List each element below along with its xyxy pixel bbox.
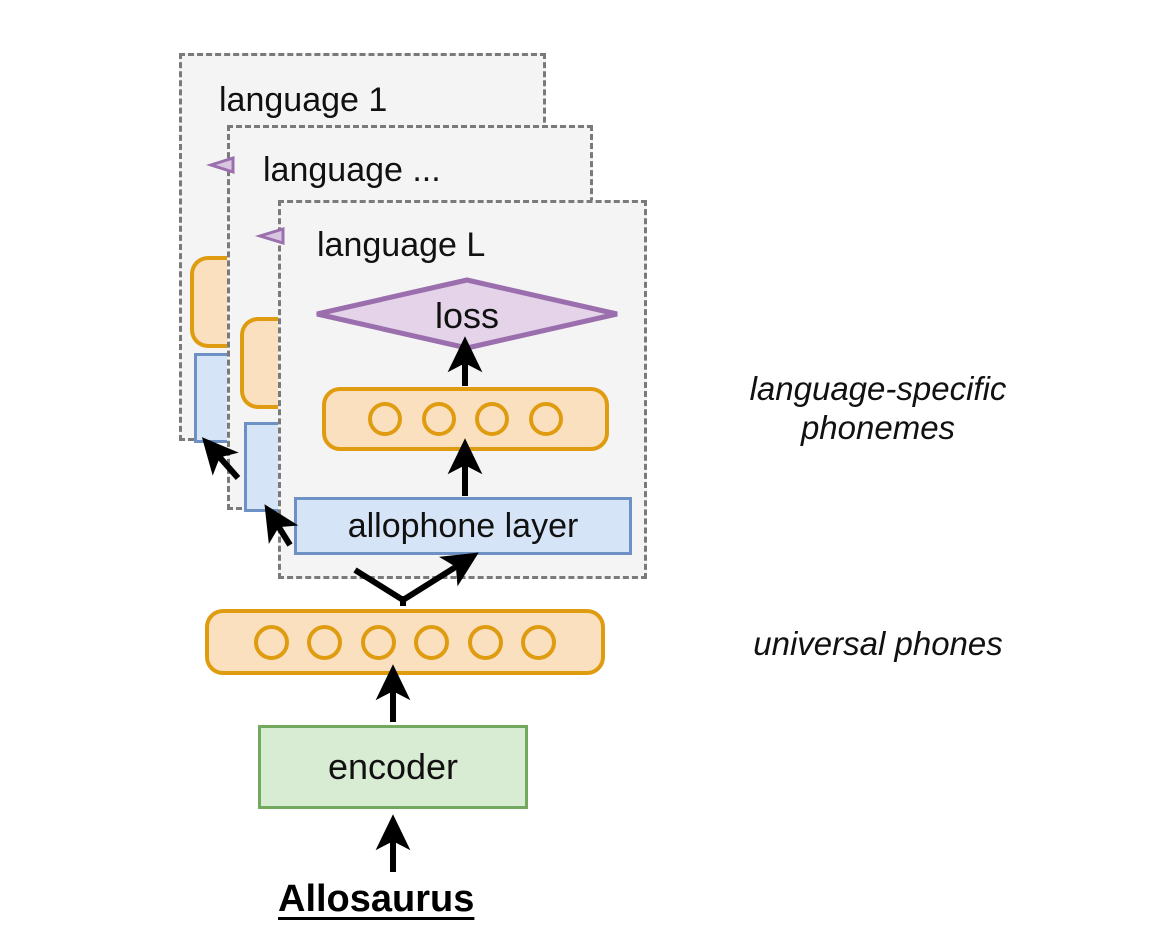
universal-phone-circle bbox=[307, 625, 342, 660]
language-panel-2-label: language ... bbox=[263, 153, 441, 187]
encoder-box: encoder bbox=[258, 725, 528, 809]
diagram-canvas: language 1 language ... language L loss … bbox=[0, 0, 1165, 950]
universal-phone-circle bbox=[414, 625, 449, 660]
page-title: Allosaurus bbox=[278, 878, 474, 921]
universal-phone-circle bbox=[361, 625, 396, 660]
phoneme-row bbox=[322, 387, 609, 451]
phoneme-circle bbox=[368, 402, 402, 436]
universal-phone-row bbox=[205, 609, 605, 675]
loss-label: loss bbox=[314, 295, 620, 337]
universal-phone-circle bbox=[521, 625, 556, 660]
annotation-universal-phones: universal phones bbox=[713, 625, 1043, 664]
phoneme-circle bbox=[529, 402, 563, 436]
allophone-layer-box: allophone layer bbox=[294, 497, 632, 555]
annotation-language-specific-phonemes: language-specific phonemes bbox=[713, 370, 1043, 448]
universal-phone-circle bbox=[254, 625, 289, 660]
phoneme-row-ghost-2 bbox=[240, 317, 283, 409]
universal-phone-circle bbox=[468, 625, 503, 660]
allophone-layer-ghost-1 bbox=[194, 353, 230, 443]
language-panel-1-label: language 1 bbox=[219, 83, 387, 117]
phoneme-circle bbox=[422, 402, 456, 436]
phoneme-row-ghost-1 bbox=[190, 256, 230, 348]
phoneme-circle bbox=[475, 402, 509, 436]
language-panel-3-label: language L bbox=[317, 228, 485, 262]
